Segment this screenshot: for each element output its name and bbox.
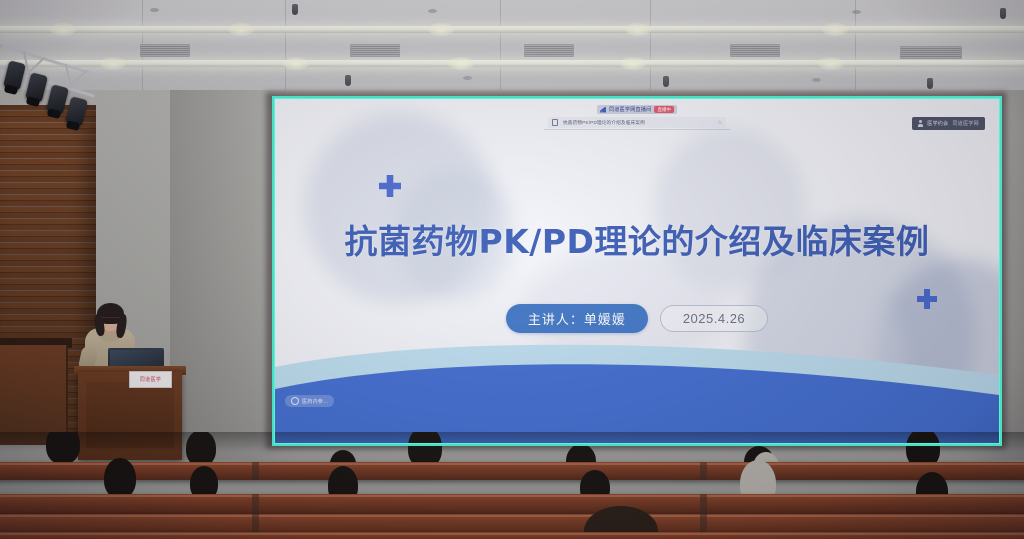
toolbar-divider [544, 129, 730, 130]
podium-sign-label: 同道医学 [140, 376, 162, 383]
bench-row[interactable] [0, 532, 1024, 539]
sprinkler-icon [927, 78, 933, 89]
toolbar-title: 同道医学网直播间 [609, 106, 651, 113]
lock-icon [552, 119, 558, 126]
bench-row[interactable] [0, 462, 1024, 480]
sprinkler-icon [663, 76, 669, 87]
signal-bars-icon [600, 107, 606, 113]
account-label: 医学约会 [927, 120, 948, 127]
audience-head [104, 458, 136, 498]
ceiling-light-strip [0, 60, 1024, 67]
audience-head [46, 432, 80, 464]
person-icon [918, 120, 923, 127]
glasses-icon [101, 317, 120, 323]
ceiling [0, 0, 1024, 96]
slide-title: 抗菌药物PK/PD理论的介绍及临床案例 [275, 215, 999, 263]
audience-head [186, 432, 216, 466]
livestream-toolbar-badge[interactable]: 同道医学网直播间 直播中 [597, 105, 677, 114]
date-pill: 2025.4.26 [660, 305, 768, 332]
live-badge: 直播中 [654, 106, 674, 113]
account-pill[interactable]: 医学约会 同道医学网 [912, 117, 985, 130]
projection-screen: 同道医学网直播间 直播中 抗菌药物PK/PD理论的介绍及临床案例 ☆ 医学约会 … [272, 96, 1002, 446]
slide-bottom-badge: 医药内参... [285, 395, 334, 407]
presentation-slide: 同道医学网直播间 直播中 抗菌药物PK/PD理论的介绍及临床案例 ☆ 医学约会 … [275, 99, 999, 443]
sprinkler-icon [292, 4, 298, 15]
ceiling-vent-icon [730, 44, 780, 57]
podium-sign: 同道医学 [129, 371, 172, 388]
ceiling-vent-icon [524, 44, 574, 57]
door[interactable] [0, 345, 68, 445]
ceiling-vent-icon [900, 46, 962, 59]
address-bar[interactable]: 抗菌药物PK/PD理论的介绍及临床案例 ☆ [548, 117, 726, 128]
badge-dot-icon [291, 397, 299, 405]
account-label-secondary: 同道医学网 [952, 120, 979, 127]
slide-meta-row: 主讲人：单媛媛 2025.4.26 [275, 304, 999, 333]
bookmark-star-icon[interactable]: ☆ [718, 120, 722, 126]
presenter-pill: 主讲人：单媛媛 [506, 304, 648, 333]
ceiling-vent-icon [140, 44, 190, 57]
audience-area [0, 432, 1024, 539]
sprinkler-icon [345, 75, 351, 86]
ceiling-light-strip [0, 26, 1024, 33]
lecture-hall-photo: 同道医学网直播间 直播中 抗菌药物PK/PD理论的介绍及临床案例 ☆ 医学约会 … [0, 0, 1024, 539]
slide-badge-label: 医药内参... [302, 398, 328, 405]
slide-wave-footer [275, 333, 999, 443]
address-bar-text: 抗菌药物PK/PD理论的介绍及临床案例 [563, 120, 645, 126]
bench-row[interactable] [0, 494, 1024, 514]
ceiling-vent-icon [350, 44, 400, 57]
sprinkler-icon [1000, 8, 1006, 19]
room: 同道医学网直播间 直播中 抗菌药物PK/PD理论的介绍及临床案例 ☆ 医学约会 … [0, 0, 1024, 539]
